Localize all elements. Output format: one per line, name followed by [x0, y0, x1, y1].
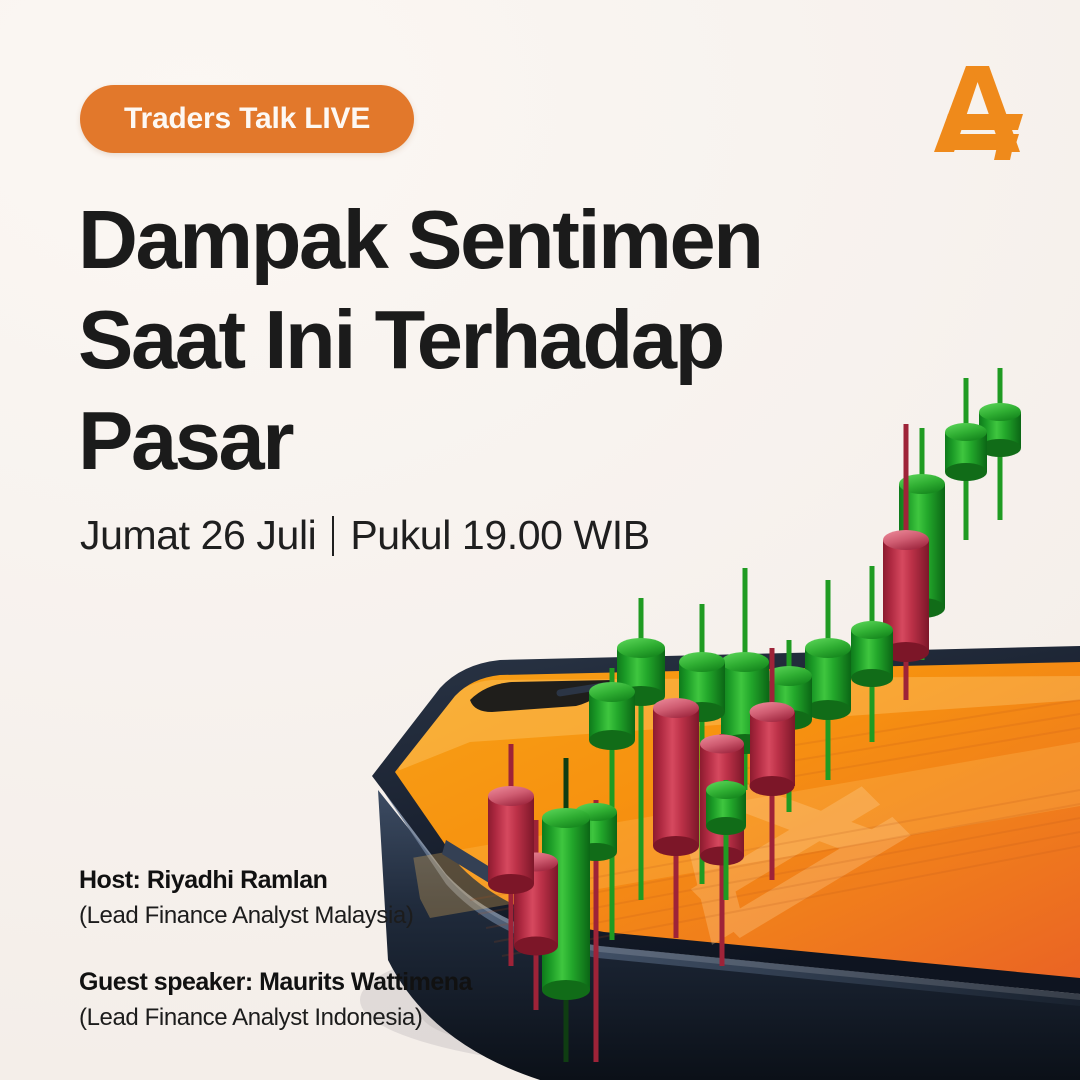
schedule-separator: [332, 516, 334, 556]
live-badge[interactable]: Traders Talk LIVE: [80, 85, 414, 153]
guest-role: (Lead Finance Analyst Indonesia): [79, 1004, 472, 1032]
headline-line-1: Dampak Sentimen: [78, 190, 838, 290]
schedule-date: Jumat 26 Juli: [80, 512, 316, 559]
headline-line-3: Pasar: [78, 391, 838, 491]
guest-credit: Guest speaker: Maurits Wattimena (Lead F…: [79, 968, 472, 1032]
guest-name: Guest speaker: Maurits Wattimena: [79, 968, 472, 997]
schedule-line: Jumat 26 Juli Pukul 19.00 WIB: [80, 512, 650, 559]
headline-line-2: Saat Ini Terhadap: [78, 290, 838, 390]
ascend-a-logo-icon: [926, 58, 1030, 162]
promo-poster: Traders Talk LIVE Dampak Sentimen Saat I…: [0, 0, 1080, 1080]
live-badge-label: Traders Talk LIVE: [124, 102, 370, 136]
host-role: (Lead Finance Analyst Malaysia): [79, 902, 472, 930]
page-title: Dampak Sentimen Saat Ini Terhadap Pasar: [78, 190, 838, 491]
host-credit: Host: Riyadhi Ramlan (Lead Finance Analy…: [79, 866, 472, 930]
schedule-time: Pukul 19.00 WIB: [350, 512, 649, 559]
host-name: Host: Riyadhi Ramlan: [79, 866, 472, 895]
credits-block: Host: Riyadhi Ramlan (Lead Finance Analy…: [79, 866, 472, 1032]
